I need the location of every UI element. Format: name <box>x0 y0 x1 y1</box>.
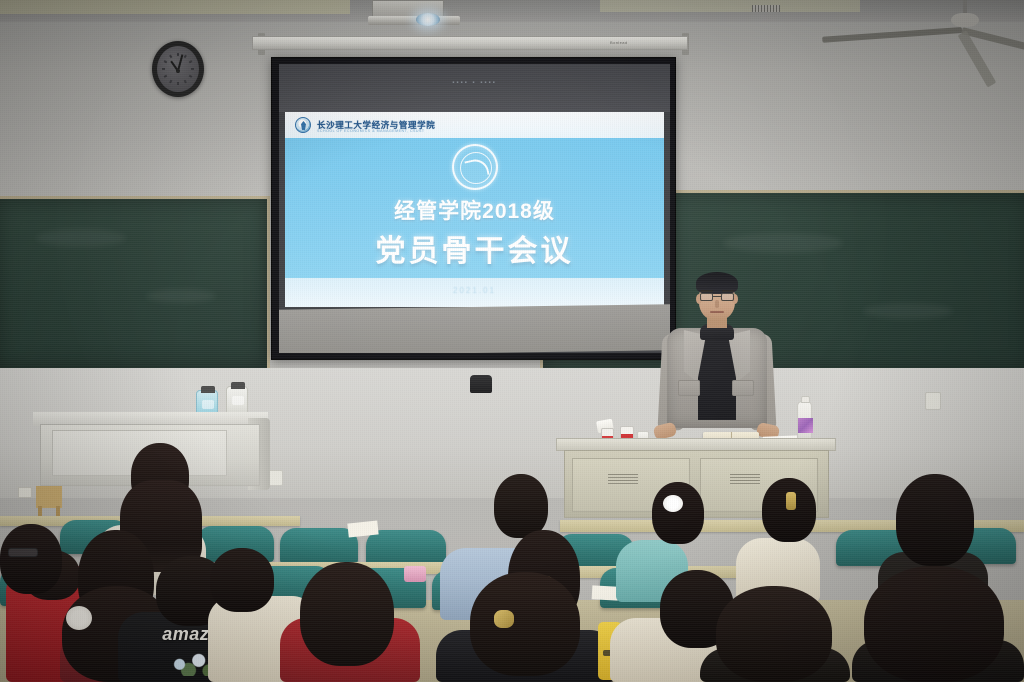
roller-brand-label: Bonlead <box>610 40 627 45</box>
wall-clock-icon <box>152 41 204 97</box>
slide-title-line-2: 党员骨干会议 <box>285 226 664 270</box>
notebook-papers-2 <box>592 585 619 600</box>
glasses-icon-2 <box>8 548 38 557</box>
wall-socket-center <box>268 470 283 486</box>
lecture-hall-photo: Bonlead ▪▪▪▪ ▪ ▪▪▪▪ 长沙理工大学经济与管理学院 SCHOOL… <box>0 0 1024 682</box>
slide-body: 经管学院2018级 党员骨干会议 <box>285 138 664 278</box>
wooden-stool <box>36 486 62 508</box>
ceiling-beam-left <box>0 0 350 14</box>
screen-top-band-text: ▪▪▪▪ ▪ ▪▪▪▪ <box>279 80 670 86</box>
slide-title-line-1: 经管学院2018级 <box>285 195 664 225</box>
wall-socket-left <box>18 487 32 498</box>
wall-socket-right <box>925 392 941 410</box>
white-scrunchie-icon <box>663 495 683 512</box>
gold-hairclip-icon-3 <box>494 610 514 628</box>
seat <box>280 528 358 564</box>
institution-subtitle: SCHOOL OF ECONOMICS & MANAGEMENT, CSUST <box>317 129 425 133</box>
slide-header: 长沙理工大学经济与管理学院 SCHOOL OF ECONOMICS & MANA… <box>285 112 664 138</box>
ceiling-beam-right <box>600 0 860 12</box>
white-scrunchie-icon-2 <box>66 606 92 630</box>
university-seal-icon <box>452 144 498 190</box>
projector-lens <box>416 13 440 26</box>
blackboard-eraser-icon <box>470 375 492 393</box>
projection-screen: ▪▪▪▪ ▪ ▪▪▪▪ 长沙理工大学经济与管理学院 SCHOOL OF ECON… <box>271 57 676 360</box>
university-logo-icon <box>295 117 311 133</box>
standing-presenter <box>654 272 779 447</box>
blackboard-left <box>0 196 270 372</box>
pink-cup <box>404 566 426 582</box>
presentation-slide: 长沙理工大学经济与管理学院 SCHOOL OF ECONOMICS & MANA… <box>285 112 664 307</box>
seat <box>366 530 446 566</box>
slide-date-text: 2021.01 <box>285 286 664 295</box>
gold-hairclip-icon <box>786 492 796 510</box>
screen-bottom-band <box>279 304 670 353</box>
